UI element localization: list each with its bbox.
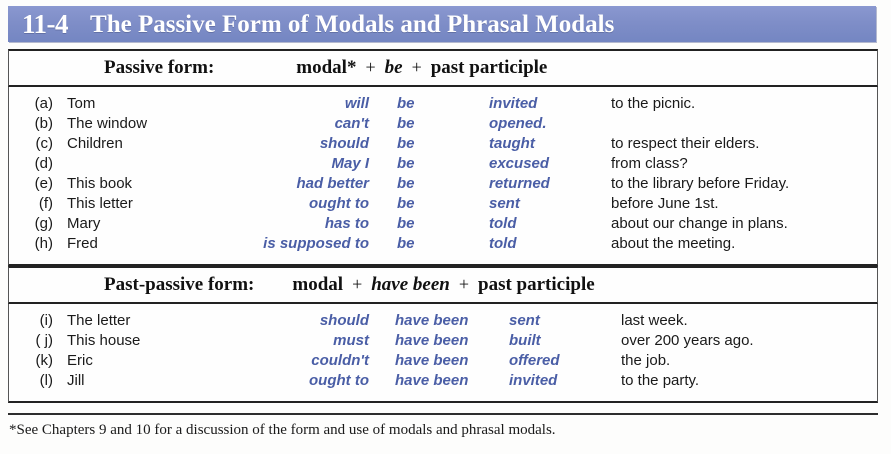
row-modal: is supposed to bbox=[201, 235, 369, 252]
row-letter: (a) bbox=[9, 95, 53, 112]
row-participle: returned bbox=[489, 175, 611, 192]
row-complement: from class? bbox=[611, 155, 877, 172]
row-auxiliary: be bbox=[369, 135, 489, 152]
row-letter: (c) bbox=[9, 135, 53, 152]
row-participle: told bbox=[489, 215, 611, 232]
table-row: (f) This letter ought to be sent before … bbox=[9, 195, 877, 215]
formula-term-modal: modal* bbox=[296, 57, 356, 79]
row-complement: before June 1st. bbox=[611, 195, 877, 212]
row-participle: excused bbox=[489, 155, 611, 172]
row-complement: the job. bbox=[621, 352, 877, 369]
row-subject: Fred bbox=[53, 235, 201, 252]
row-auxiliary: be bbox=[369, 175, 489, 192]
row-auxiliary: have been bbox=[369, 372, 509, 389]
row-modal: couldn't bbox=[201, 352, 369, 369]
row-complement: to the party. bbox=[621, 372, 877, 389]
formula-term-participle: past participle bbox=[478, 274, 595, 296]
row-modal: can't bbox=[201, 115, 369, 132]
formula-term-have-been: have been bbox=[371, 274, 450, 296]
row-auxiliary: be bbox=[369, 195, 489, 212]
row-modal: ought to bbox=[201, 195, 369, 212]
past-passive-formula: modal + have been + past participle bbox=[292, 274, 594, 296]
row-participle: built bbox=[509, 332, 621, 349]
row-letter: (h) bbox=[9, 235, 53, 252]
passive-formula: modal* + be + past participle bbox=[296, 57, 547, 79]
row-modal: has to bbox=[201, 215, 369, 232]
row-participle: sent bbox=[509, 312, 621, 329]
formula-term-participle: past participle bbox=[431, 57, 548, 79]
row-auxiliary: be bbox=[369, 155, 489, 172]
table-row: (e) This book had better be returned to … bbox=[9, 175, 877, 195]
row-auxiliary: be bbox=[369, 215, 489, 232]
row-participle: taught bbox=[489, 135, 611, 152]
row-auxiliary: have been bbox=[369, 352, 509, 369]
row-complement: last week. bbox=[621, 312, 877, 329]
formula-term-modal: modal bbox=[292, 274, 343, 296]
passive-form-label: Passive form: bbox=[104, 57, 214, 79]
row-participle: invited bbox=[489, 95, 611, 112]
page-title: The Passive Form of Modals and Phrasal M… bbox=[90, 12, 614, 37]
row-participle: invited bbox=[509, 372, 621, 389]
table-row: (c) Children should be taught to respect… bbox=[9, 135, 877, 155]
row-auxiliary: be bbox=[369, 115, 489, 132]
formula-plus-1: + bbox=[352, 274, 362, 295]
row-subject: Mary bbox=[53, 215, 201, 232]
table-row: (i) The letter should have been sent las… bbox=[9, 312, 877, 332]
row-participle: offered bbox=[509, 352, 621, 369]
row-subject: Children bbox=[53, 135, 201, 152]
row-letter: (e) bbox=[9, 175, 53, 192]
row-modal: ought to bbox=[201, 372, 369, 389]
row-letter: (i) bbox=[9, 312, 53, 329]
footnote-text: *See Chapters 9 and 10 for a discussion … bbox=[9, 422, 879, 439]
table-row: (k) Eric couldn't have been offered the … bbox=[9, 352, 877, 372]
table-row: (h) Fred is supposed to be told about th… bbox=[9, 235, 877, 255]
table-row: (l) Jill ought to have been invited to t… bbox=[9, 372, 877, 392]
row-modal: will bbox=[201, 95, 369, 112]
row-subject: Jill bbox=[53, 372, 201, 389]
row-letter: (g) bbox=[9, 215, 53, 232]
row-auxiliary: be bbox=[369, 95, 489, 112]
row-subject: This book bbox=[53, 175, 201, 192]
formula-plus-2: + bbox=[459, 274, 469, 295]
chart-table: Passive form: modal* + be + past partici… bbox=[8, 49, 878, 413]
table-row: (d) May I be excused from class? bbox=[9, 155, 877, 175]
row-complement: about our change in plans. bbox=[611, 215, 877, 232]
row-auxiliary: have been bbox=[369, 332, 509, 349]
row-complement: over 200 years ago. bbox=[621, 332, 877, 349]
past-passive-examples-block: (i) The letter should have been sent las… bbox=[8, 304, 878, 403]
table-row: ( j) This house must have been built ove… bbox=[9, 332, 877, 352]
past-passive-formula-row: Past-passive form: modal + have been + p… bbox=[8, 266, 878, 304]
row-subject: The window bbox=[53, 115, 201, 132]
row-modal: should bbox=[201, 135, 369, 152]
row-modal: had better bbox=[201, 175, 369, 192]
row-participle: opened. bbox=[489, 115, 611, 132]
row-letter: ( j) bbox=[9, 332, 53, 349]
row-auxiliary: have been bbox=[369, 312, 509, 329]
table-row: (g) Mary has to be told about our change… bbox=[9, 215, 877, 235]
row-letter: (l) bbox=[9, 372, 53, 389]
row-subject: This house bbox=[53, 332, 201, 349]
row-complement: about the meeting. bbox=[611, 235, 877, 252]
row-modal: must bbox=[201, 332, 369, 349]
row-subject: Eric bbox=[53, 352, 201, 369]
row-participle: sent bbox=[489, 195, 611, 212]
passive-formula-row: Passive form: modal* + be + past partici… bbox=[8, 49, 878, 87]
row-modal: should bbox=[201, 312, 369, 329]
row-complement: to the picnic. bbox=[611, 95, 877, 112]
row-auxiliary: be bbox=[369, 235, 489, 252]
passive-examples-block: (a) Tom will be invited to the picnic. (… bbox=[8, 87, 878, 266]
past-passive-form-label: Past-passive form: bbox=[104, 274, 254, 296]
row-subject: The letter bbox=[53, 312, 201, 329]
row-letter: (d) bbox=[9, 155, 53, 172]
row-participle: told bbox=[489, 235, 611, 252]
row-letter: (f) bbox=[9, 195, 53, 212]
row-modal: May I bbox=[201, 155, 369, 172]
chart-number: 11-4 bbox=[22, 11, 68, 38]
table-row: (a) Tom will be invited to the picnic. bbox=[9, 95, 877, 115]
footnote-divider bbox=[8, 413, 878, 415]
chart-title-band: 11-4 The Passive Form of Modals and Phra… bbox=[8, 6, 876, 42]
table-row: (b) The window can't be opened. bbox=[9, 115, 877, 135]
formula-term-be: be bbox=[385, 57, 403, 79]
row-subject: Tom bbox=[53, 95, 201, 112]
formula-plus-2: + bbox=[412, 57, 422, 78]
row-complement: to the library before Friday. bbox=[611, 175, 877, 192]
formula-plus-1: + bbox=[365, 57, 375, 78]
row-subject: This letter bbox=[53, 195, 201, 212]
row-letter: (b) bbox=[9, 115, 53, 132]
grammar-chart-page: 11-4 The Passive Form of Modals and Phra… bbox=[0, 0, 891, 454]
row-letter: (k) bbox=[9, 352, 53, 369]
row-complement: to respect their elders. bbox=[611, 135, 877, 152]
